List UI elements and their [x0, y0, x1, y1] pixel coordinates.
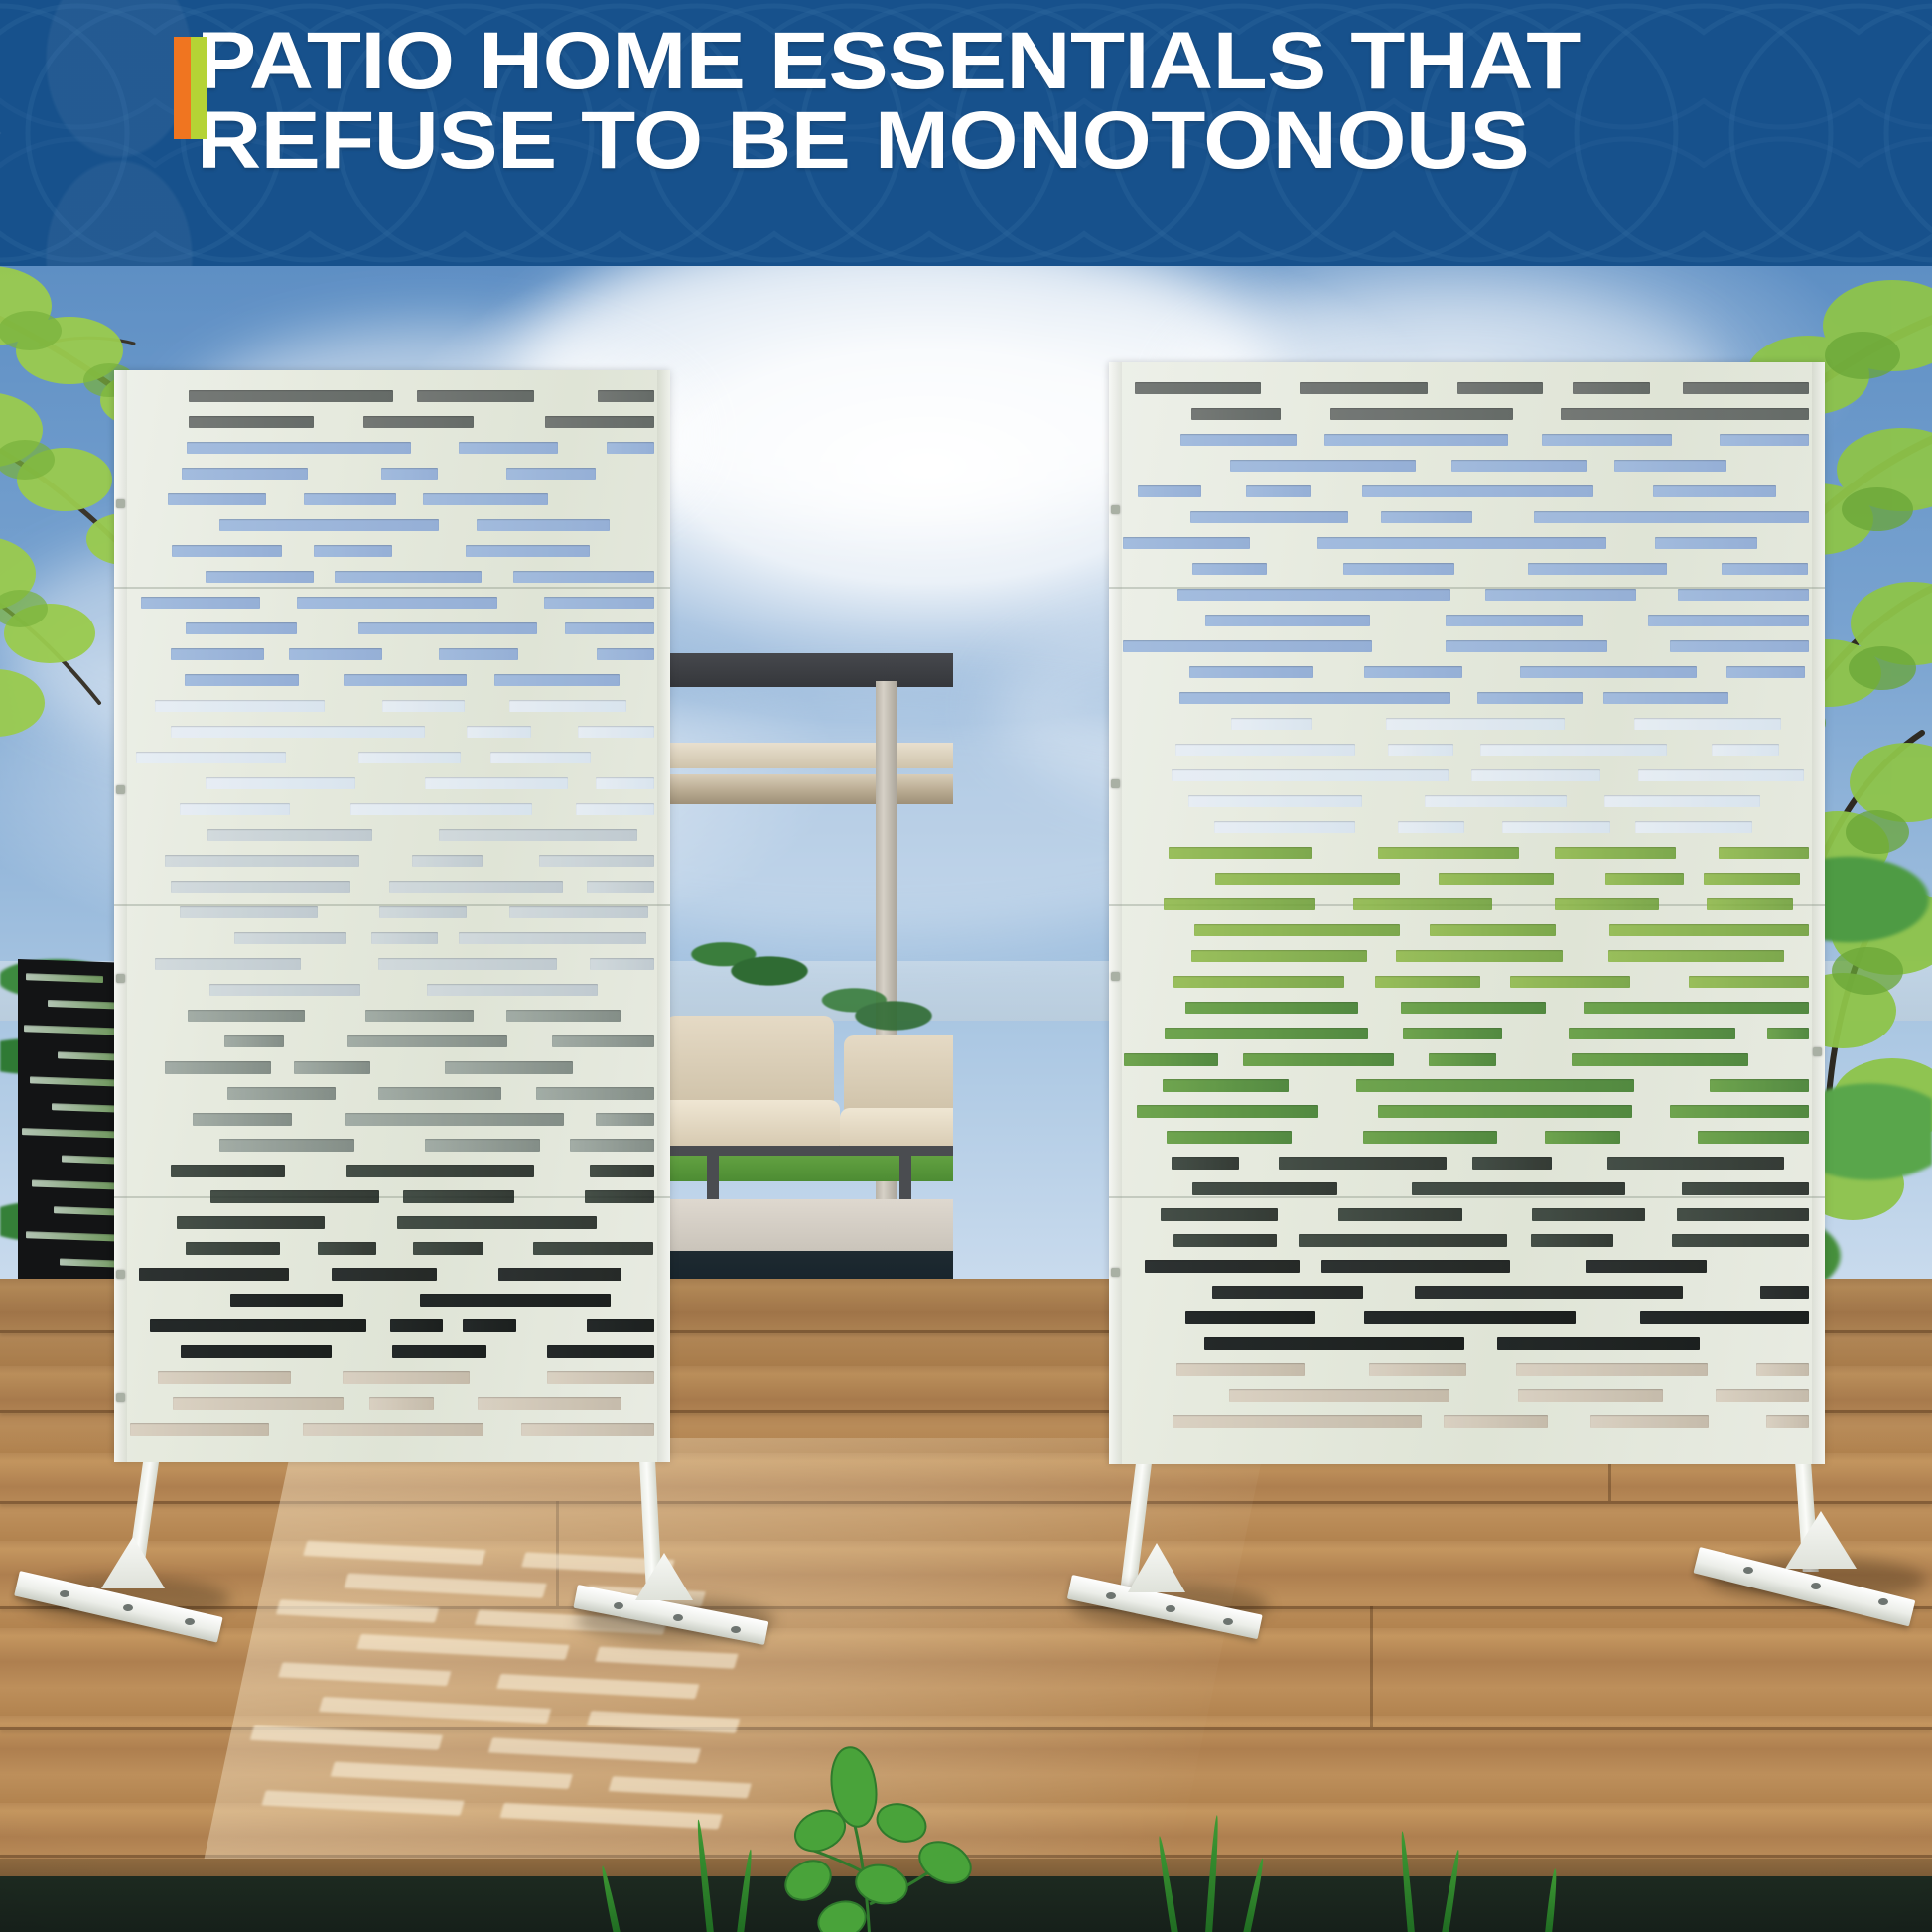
laser-cut-slot: [314, 545, 392, 557]
laser-cut-slot: [294, 1061, 370, 1074]
laser-cut-slot: [392, 1345, 486, 1358]
laser-cut-slot: [1480, 744, 1667, 756]
laser-cut-slot: [343, 1371, 470, 1384]
laser-cut-slot: [1485, 589, 1636, 601]
laser-cut-slot: [1670, 640, 1809, 652]
laser-cut-slot: [158, 1371, 291, 1384]
laser-cut-slot: [1655, 537, 1757, 549]
laser-cut-slot: [1590, 1415, 1709, 1428]
laser-cut-slot: [1572, 1053, 1748, 1066]
laser-cut-slot: [155, 958, 301, 970]
laser-cut-slot: [165, 855, 359, 867]
laser-cut-slot: [1205, 615, 1370, 626]
laser-cut-slot: [1189, 666, 1313, 678]
gravel-border: [655, 1199, 953, 1254]
laser-cut-slot: [1401, 1002, 1546, 1014]
laser-cut-slot: [180, 906, 318, 918]
laser-cut-slot: [590, 1165, 654, 1177]
laser-cut-slot: [1212, 1286, 1363, 1299]
laser-cut-slot: [1766, 1415, 1809, 1428]
accent-stripe-green: [191, 37, 207, 139]
laser-cut-slot: [1161, 1208, 1278, 1221]
laser-cut-slot: [390, 1319, 443, 1332]
panel-fastener: [1111, 972, 1120, 981]
laser-cut-slot: [177, 1216, 325, 1229]
laser-cut-slot: [136, 752, 286, 763]
laser-cut-slot: [1362, 485, 1593, 497]
lounge-sofa-back: [665, 1016, 834, 1107]
laser-cut-slot: [1640, 1311, 1809, 1324]
laser-cut-slot: [413, 1242, 483, 1255]
laser-cut-slot: [1653, 485, 1776, 497]
laser-cut-slot: [1246, 485, 1311, 497]
laser-cut-slot: [346, 1165, 534, 1177]
laser-cut-slot: [130, 1423, 269, 1436]
laser-cut-slot: [1726, 666, 1805, 678]
laser-cut-slot: [439, 829, 637, 841]
laser-cut-slot: [1164, 898, 1315, 910]
laser-cut-slot: [445, 1061, 573, 1074]
laser-cut-slot: [596, 777, 654, 789]
accent-color-bar: [174, 37, 207, 139]
laser-cut-slot: [423, 493, 548, 505]
header-banner: PATIO HOME ESSENTIALS THAT REFUSE TO BE …: [0, 0, 1932, 266]
laser-cut-slot: [1343, 563, 1454, 575]
laser-cut-slot: [1573, 382, 1650, 394]
laser-cut-slot: [227, 1087, 336, 1100]
laser-cut-slot: [1607, 1157, 1784, 1170]
laser-cut-slot: [1446, 640, 1607, 652]
laser-cut-slot: [297, 597, 497, 609]
panel-fastener: [1111, 779, 1120, 788]
laser-cut-slot: [1477, 692, 1583, 704]
laser-cut-slot: [1172, 1157, 1239, 1170]
laser-cut-slot: [1444, 1415, 1548, 1428]
screen-side-rail: [1812, 362, 1825, 1464]
laser-cut-slot: [1603, 692, 1728, 704]
deck-plank-seam: [0, 1501, 1932, 1504]
laser-cut-slot: [1356, 1079, 1634, 1092]
laser-cut-slot: [187, 442, 411, 454]
laser-cut-slot: [207, 829, 372, 841]
laser-cut-slot: [1457, 382, 1543, 394]
laser-cut-slot: [182, 468, 308, 480]
laser-cut-slot: [1682, 1182, 1809, 1195]
deck-plank-seam: [0, 1727, 1932, 1730]
laser-cut-slot: [513, 571, 654, 583]
laser-cut-slot: [1430, 924, 1556, 936]
laser-cut-slot: [570, 1139, 654, 1152]
laser-cut-slot: [1497, 1337, 1700, 1350]
left-privacy-screen[interactable]: [114, 370, 670, 1462]
left-screen-foot-front: [20, 1543, 228, 1640]
laser-cut-slot: [1167, 1131, 1292, 1144]
laser-cut-slot: [1369, 1363, 1466, 1376]
laser-cut-slot: [1177, 589, 1450, 601]
laser-cut-slot: [1194, 924, 1400, 936]
laser-cut-slot: [1137, 1105, 1318, 1118]
laser-cut-slot: [335, 571, 482, 583]
laser-cut-slot: [1204, 1337, 1464, 1350]
laser-cut-slot: [1429, 1053, 1496, 1066]
laser-cut-slot: [1364, 666, 1462, 678]
laser-cut-slot: [490, 752, 591, 763]
laser-cut-slot: [172, 545, 282, 557]
laser-cut-slot: [1396, 950, 1563, 962]
laser-cut-slot: [1502, 821, 1610, 833]
laser-cut-slot: [1451, 460, 1587, 472]
screen-side-rail: [657, 370, 670, 1462]
pergola-beam: [655, 774, 953, 804]
laser-cut-slot: [219, 1139, 354, 1152]
laser-cut-slot: [1172, 769, 1449, 781]
laser-cut-slot: [378, 1087, 501, 1100]
panel-fastener: [1111, 505, 1120, 514]
laser-cut-slot: [1243, 1053, 1394, 1066]
laser-cut-slot: [1378, 847, 1519, 859]
laser-cut-slot: [439, 648, 518, 660]
laser-cut-slot: [585, 1190, 654, 1203]
panel-fastener: [1111, 1268, 1120, 1277]
laser-cut-slot: [607, 442, 654, 454]
laser-cut-slot: [1638, 769, 1804, 781]
laser-cut-slot: [1386, 718, 1565, 730]
laser-cut-slot: [1135, 382, 1261, 394]
laser-cut-slot: [1214, 821, 1355, 833]
laser-cut-slot: [498, 1268, 621, 1281]
laser-cut-slot: [1719, 847, 1809, 859]
laser-cut-slot: [1190, 511, 1348, 523]
screen-side-rail: [114, 370, 127, 1462]
laser-cut-slot: [506, 468, 596, 480]
pergola-top-beam: [655, 653, 953, 687]
laser-cut-slot: [1299, 1234, 1507, 1247]
laser-cut-slot: [397, 1216, 597, 1229]
laser-cut-slot: [544, 597, 654, 609]
laser-cut-slot: [459, 932, 646, 944]
laser-cut-slot: [1672, 1234, 1809, 1247]
laser-cut-slot: [545, 416, 654, 428]
marketing-image: PATIO HOME ESSENTIALS THAT REFUSE TO BE …: [0, 0, 1932, 1932]
laser-cut-slot: [533, 1242, 653, 1255]
laser-cut-slot: [597, 648, 654, 660]
laser-cut-slot: [1555, 847, 1676, 859]
panel-seam: [114, 587, 670, 589]
laser-cut-slot: [1720, 434, 1809, 446]
laser-cut-slot: [171, 726, 425, 738]
laser-cut-slot: [1191, 950, 1367, 962]
laser-cut-slot: [1415, 1286, 1683, 1299]
laser-cut-slot: [1534, 511, 1809, 523]
laser-cut-slot: [1378, 1105, 1632, 1118]
laser-cut-slot: [477, 519, 610, 531]
laser-cut-slot: [1388, 744, 1453, 756]
laser-cut-slot: [369, 1397, 434, 1410]
laser-cut-slot: [1192, 563, 1267, 575]
laser-cut-slot: [181, 1345, 332, 1358]
laser-cut-slot: [1707, 898, 1793, 910]
laser-cut-slot: [1584, 1002, 1809, 1014]
laser-cut-slot: [1403, 1028, 1502, 1039]
laser-cut-slot: [1300, 382, 1428, 394]
laser-cut-slot: [358, 622, 537, 634]
laser-cut-slot: [1635, 821, 1752, 833]
laser-cut-slot: [506, 1010, 621, 1022]
laser-cut-slot: [206, 571, 314, 583]
laser-cut-slot: [363, 416, 474, 428]
deck-plank-joint: [556, 1501, 559, 1606]
laser-cut-slot: [578, 726, 654, 738]
right-screen-foot-front: [1072, 1553, 1267, 1648]
laser-cut-slot: [1518, 1389, 1663, 1402]
laser-cut-slot: [1555, 898, 1659, 910]
laser-cut-slot: [552, 1035, 654, 1047]
laser-cut-slot: [1704, 873, 1800, 885]
laser-cut-slot: [1439, 873, 1554, 885]
laser-cut-slot: [1231, 718, 1312, 730]
laser-cut-slot: [1516, 1363, 1708, 1376]
laser-cut-slot: [1471, 769, 1600, 781]
foreground-leafy-plant: [751, 1735, 1009, 1932]
laser-cut-slot: [1510, 976, 1630, 988]
laser-cut-slot: [1605, 873, 1684, 885]
laser-cut-slot: [1689, 976, 1809, 988]
laser-cut-slot: [1608, 950, 1784, 962]
laser-cut-slot: [1191, 408, 1281, 420]
laser-cut-slot: [1363, 1131, 1497, 1144]
laser-cut-slot: [378, 958, 557, 970]
laser-cut-slot: [1353, 898, 1492, 910]
laser-cut-slot: [186, 622, 297, 634]
deck-plank-joint: [1370, 1606, 1373, 1727]
laser-cut-slot: [1138, 485, 1201, 497]
laser-cut-slot: [379, 906, 467, 918]
panel-seam: [1109, 1196, 1825, 1198]
laser-cut-slot: [210, 1190, 379, 1203]
laser-cut-slot: [1569, 1028, 1735, 1039]
laser-cut-slot: [1604, 795, 1760, 807]
laser-cut-slot: [547, 1345, 654, 1358]
laser-cut-slot: [1123, 537, 1250, 549]
laser-cut-slot: [350, 803, 532, 815]
laser-cut-slot: [1446, 615, 1583, 626]
laser-cut-slot: [1338, 1208, 1462, 1221]
accent-stripe-orange: [174, 37, 191, 139]
laser-cut-slot: [1145, 1260, 1300, 1273]
laser-cut-slot: [1173, 1234, 1277, 1247]
laser-cut-slot: [189, 390, 393, 402]
deck-plank-seam: [0, 1606, 1932, 1609]
laser-cut-slot: [1188, 795, 1362, 807]
laser-cut-slot: [304, 493, 396, 505]
laser-cut-slot: [1169, 847, 1312, 859]
laser-cut-slot: [1163, 1079, 1289, 1092]
laser-cut-slot: [598, 390, 654, 402]
laser-cut-slot: [224, 1035, 284, 1047]
laser-cut-slot: [425, 1139, 540, 1152]
laser-cut-slot: [509, 906, 648, 918]
right-privacy-screen[interactable]: [1109, 362, 1825, 1464]
laser-cut-slot: [425, 777, 568, 789]
laser-cut-slot: [1670, 1105, 1809, 1118]
laser-cut-slot: [1185, 1002, 1358, 1014]
laser-cut-slot: [345, 1113, 564, 1126]
laser-cut-slot: [1531, 1234, 1613, 1247]
laser-cut-slot: [209, 984, 360, 996]
laser-cut-slot: [1321, 1260, 1510, 1273]
laser-cut-slot: [186, 1242, 280, 1255]
laser-cut-slot: [1545, 1131, 1620, 1144]
laser-cut-slot: [206, 777, 355, 789]
laser-cut-slot: [509, 700, 626, 712]
laser-cut-slot: [466, 545, 590, 557]
laser-cut-slot: [576, 803, 654, 815]
laser-cut-slot: [1215, 873, 1400, 885]
laser-cut-slot: [1528, 563, 1667, 575]
laser-cut-slot: [1710, 1079, 1809, 1092]
panel-fastener: [116, 785, 125, 794]
laser-cut-slot: [150, 1319, 366, 1332]
laser-cut-slot: [332, 1268, 437, 1281]
laser-cut-slot: [1381, 511, 1472, 523]
laser-cut-slot: [171, 1165, 285, 1177]
laser-cut-slot: [1756, 1363, 1809, 1376]
laser-cut-slot: [139, 1268, 289, 1281]
laser-cut-slot: [539, 855, 654, 867]
product-photo: [0, 266, 1932, 1932]
laser-cut-slot: [1586, 1260, 1707, 1273]
laser-cut-slot: [171, 648, 264, 660]
laser-cut-slot: [1175, 744, 1355, 756]
laser-cut-slot: [420, 1294, 611, 1307]
laser-cut-slot: [1317, 537, 1606, 549]
laser-cut-slot: [1165, 1028, 1368, 1039]
laser-cut-slot: [521, 1423, 654, 1436]
laser-cut-slot: [1634, 718, 1781, 730]
laser-cut-slot: [412, 855, 483, 867]
left-screen-foot-rear: [578, 1567, 772, 1658]
laser-cut-slot: [463, 1319, 516, 1332]
laser-cut-slot: [587, 881, 654, 893]
laser-cut-slot: [193, 1113, 292, 1126]
laser-cut-slot: [1712, 744, 1779, 756]
laser-cut-slot: [1722, 563, 1808, 575]
laser-cut-slot: [219, 519, 439, 531]
laser-cut-slot: [1180, 434, 1297, 446]
laser-cut-slot: [1542, 434, 1672, 446]
laser-cut-slot: [389, 881, 563, 893]
laser-cut-slot: [381, 468, 438, 480]
laser-cut-slot: [1330, 408, 1513, 420]
pergola-beam: [655, 743, 953, 768]
laser-cut-slot: [1767, 1028, 1809, 1039]
laser-cut-slot: [344, 674, 467, 686]
laser-cut-slot: [165, 1061, 271, 1074]
laser-cut-slot: [1192, 1182, 1337, 1195]
laser-cut-slot: [1173, 976, 1344, 988]
laser-cut-slot: [382, 700, 465, 712]
laser-cut-slot: [1412, 1182, 1625, 1195]
laser-cut-slot: [141, 597, 260, 609]
laser-cut-slot: [303, 1423, 483, 1436]
laser-cut-slot: [1364, 1311, 1576, 1324]
laser-cut-slot: [403, 1190, 514, 1203]
laser-cut-slot: [1561, 408, 1809, 420]
laser-cut-slot: [155, 700, 325, 712]
banner-headline: PATIO HOME ESSENTIALS THAT REFUSE TO BE …: [197, 22, 1932, 182]
lounge-sofa-seat: [659, 1100, 840, 1148]
lounge-sofa-back: [844, 1035, 953, 1115]
laser-cut-slot: [596, 1113, 654, 1126]
laser-cut-slot: [1398, 821, 1464, 833]
laser-cut-slot: [1324, 434, 1508, 446]
laser-cut-slot: [1698, 1131, 1809, 1144]
laser-cut-slot: [1229, 1389, 1449, 1402]
laser-cut-slot: [417, 390, 534, 402]
laser-cut-slot: [180, 803, 290, 815]
laser-cut-slot: [1279, 1157, 1447, 1170]
laser-cut-slot: [171, 881, 350, 893]
laser-cut-slot: [289, 648, 382, 660]
laser-cut-slot: [1124, 1053, 1218, 1066]
laser-cut-slot: [536, 1087, 654, 1100]
laser-cut-slot: [371, 932, 438, 944]
laser-cut-slot: [1677, 1208, 1809, 1221]
laser-cut-slot: [590, 958, 654, 970]
laser-cut-slot: [185, 674, 299, 686]
laser-cut-slot: [1609, 924, 1809, 936]
laser-cut-slot: [230, 1294, 343, 1307]
laser-cut-slot: [1179, 692, 1450, 704]
laser-cut-slot: [1532, 1208, 1645, 1221]
laser-cut-slot: [1472, 1157, 1552, 1170]
laser-cut-slot: [459, 442, 558, 454]
panel-fastener: [116, 974, 125, 983]
laser-cut-slot: [478, 1397, 621, 1410]
laser-cut-slot: [168, 493, 266, 505]
laser-cut-slot: [427, 984, 598, 996]
laser-cut-slot: [358, 752, 461, 763]
laser-cut-slot: [189, 416, 314, 428]
laser-cut-slot: [494, 674, 620, 686]
panel-fastener: [116, 1393, 125, 1402]
panel-fastener: [1813, 1047, 1822, 1056]
laser-cut-slot: [565, 622, 654, 634]
laser-cut-slot: [188, 1010, 305, 1022]
laser-cut-slot: [1678, 589, 1809, 601]
laser-cut-slot: [1173, 1415, 1422, 1428]
laser-cut-slot: [1123, 640, 1372, 652]
laser-cut-slot: [1760, 1286, 1809, 1299]
panel-fastener: [116, 499, 125, 508]
laser-cut-slot: [1375, 976, 1480, 988]
laser-cut-slot: [347, 1035, 507, 1047]
screen-side-rail: [1109, 362, 1122, 1464]
laser-cut-slot: [1716, 1389, 1809, 1402]
laser-cut-slot: [1230, 460, 1416, 472]
laser-cut-slot: [1614, 460, 1726, 472]
panel-fastener: [116, 1270, 125, 1279]
laser-cut-slot: [1648, 615, 1809, 626]
laser-cut-slot: [173, 1397, 344, 1410]
laser-cut-slot: [547, 1371, 654, 1384]
laser-cut-slot: [1185, 1311, 1315, 1324]
laser-cut-slot: [234, 932, 346, 944]
laser-cut-slot: [1425, 795, 1567, 807]
laser-cut-slot: [467, 726, 531, 738]
laser-cut-slot: [587, 1319, 654, 1332]
laser-cut-slot: [1683, 382, 1809, 394]
